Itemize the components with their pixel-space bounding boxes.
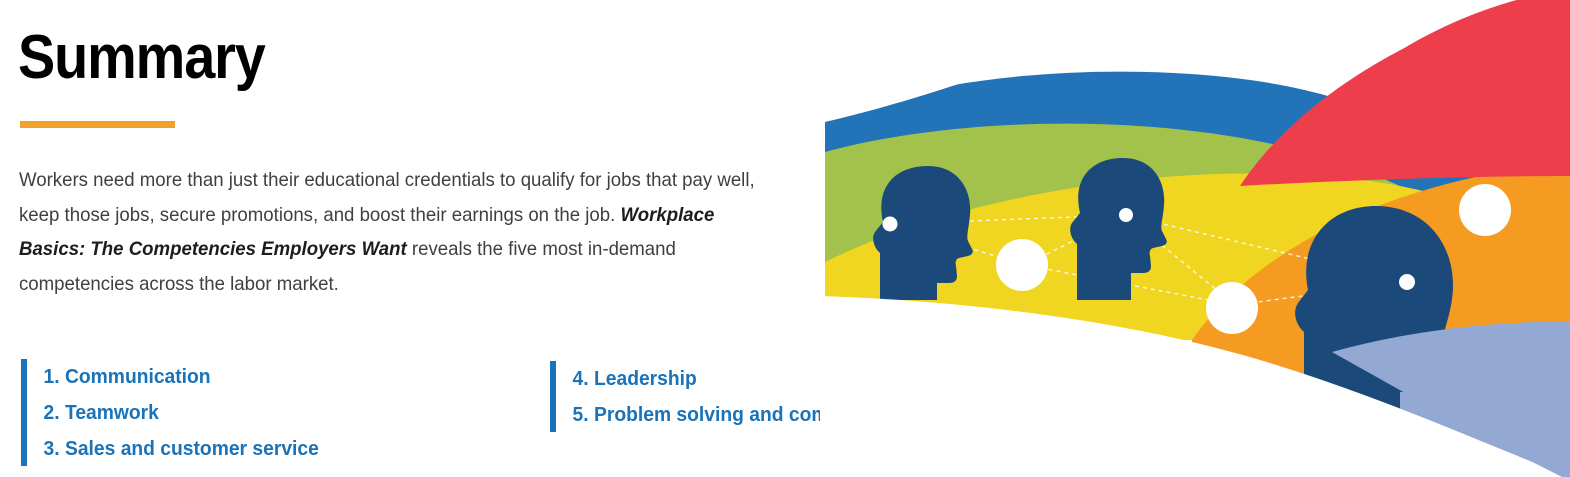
list-item: 1. Communication — [21, 359, 319, 395]
page-title: Summary — [18, 22, 265, 94]
title-underline-rule — [20, 121, 175, 128]
node-circle-3 — [1459, 184, 1511, 236]
node-circle-1 — [996, 239, 1048, 291]
head-eye-dot-1 — [883, 217, 898, 232]
layered-bands-illustration — [820, 0, 1570, 477]
list-item: 2. Teamwork — [21, 395, 319, 431]
node-circle-2 — [1206, 282, 1258, 334]
hero-artwork — [820, 0, 1570, 477]
summary-page: Summary Workers need more than just thei… — [0, 0, 1570, 477]
head-eye-dot-2 — [1119, 208, 1133, 222]
text-column: Summary Workers need more than just thei… — [0, 0, 820, 477]
competency-list-left: 1. Communication 2. Teamwork 3. Sales an… — [21, 359, 338, 466]
summary-paragraph: Workers need more than just their educat… — [19, 163, 773, 301]
list-item: 3. Sales and customer service — [21, 431, 319, 467]
head-eye-dot-3 — [1399, 274, 1415, 290]
